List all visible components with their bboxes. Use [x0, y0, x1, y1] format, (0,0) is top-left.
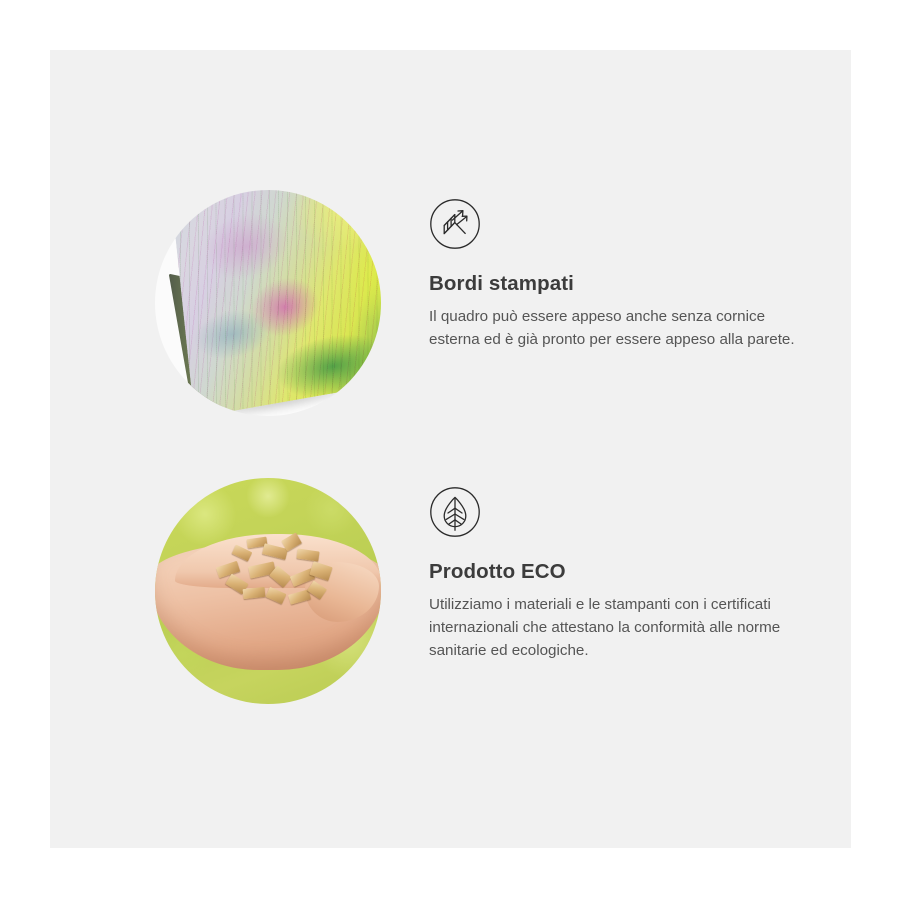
canvas-print-corner-photo [155, 190, 381, 416]
feature-eco-product: Prodotto ECO Utilizziamo i materiali e l… [155, 478, 797, 704]
product-info-page: Bordi stampati Il quadro può essere appe… [0, 0, 900, 900]
feature-title: Prodotto ECO [429, 560, 797, 584]
content-panel: Bordi stampati Il quadro può essere appe… [50, 50, 851, 848]
wrapped-canvas-edge-icon [429, 198, 481, 250]
feature-text-column: Prodotto ECO Utilizziamo i materiali e l… [429, 478, 797, 662]
feature-description: Utilizziamo i materiali e le stampanti c… [429, 593, 797, 662]
canvas-printed-surface [171, 190, 381, 416]
feature-printed-edges: Bordi stampati Il quadro può essere appe… [155, 190, 797, 416]
wood-chips-pile [213, 534, 339, 610]
feature-description: Il quadro può essere appeso anche senza … [429, 305, 797, 351]
leaf-icon [429, 486, 481, 538]
hand-with-wood-chips-photo [155, 478, 381, 704]
feature-title: Bordi stampati [429, 272, 797, 296]
feature-text-column: Bordi stampati Il quadro può essere appe… [429, 190, 797, 351]
